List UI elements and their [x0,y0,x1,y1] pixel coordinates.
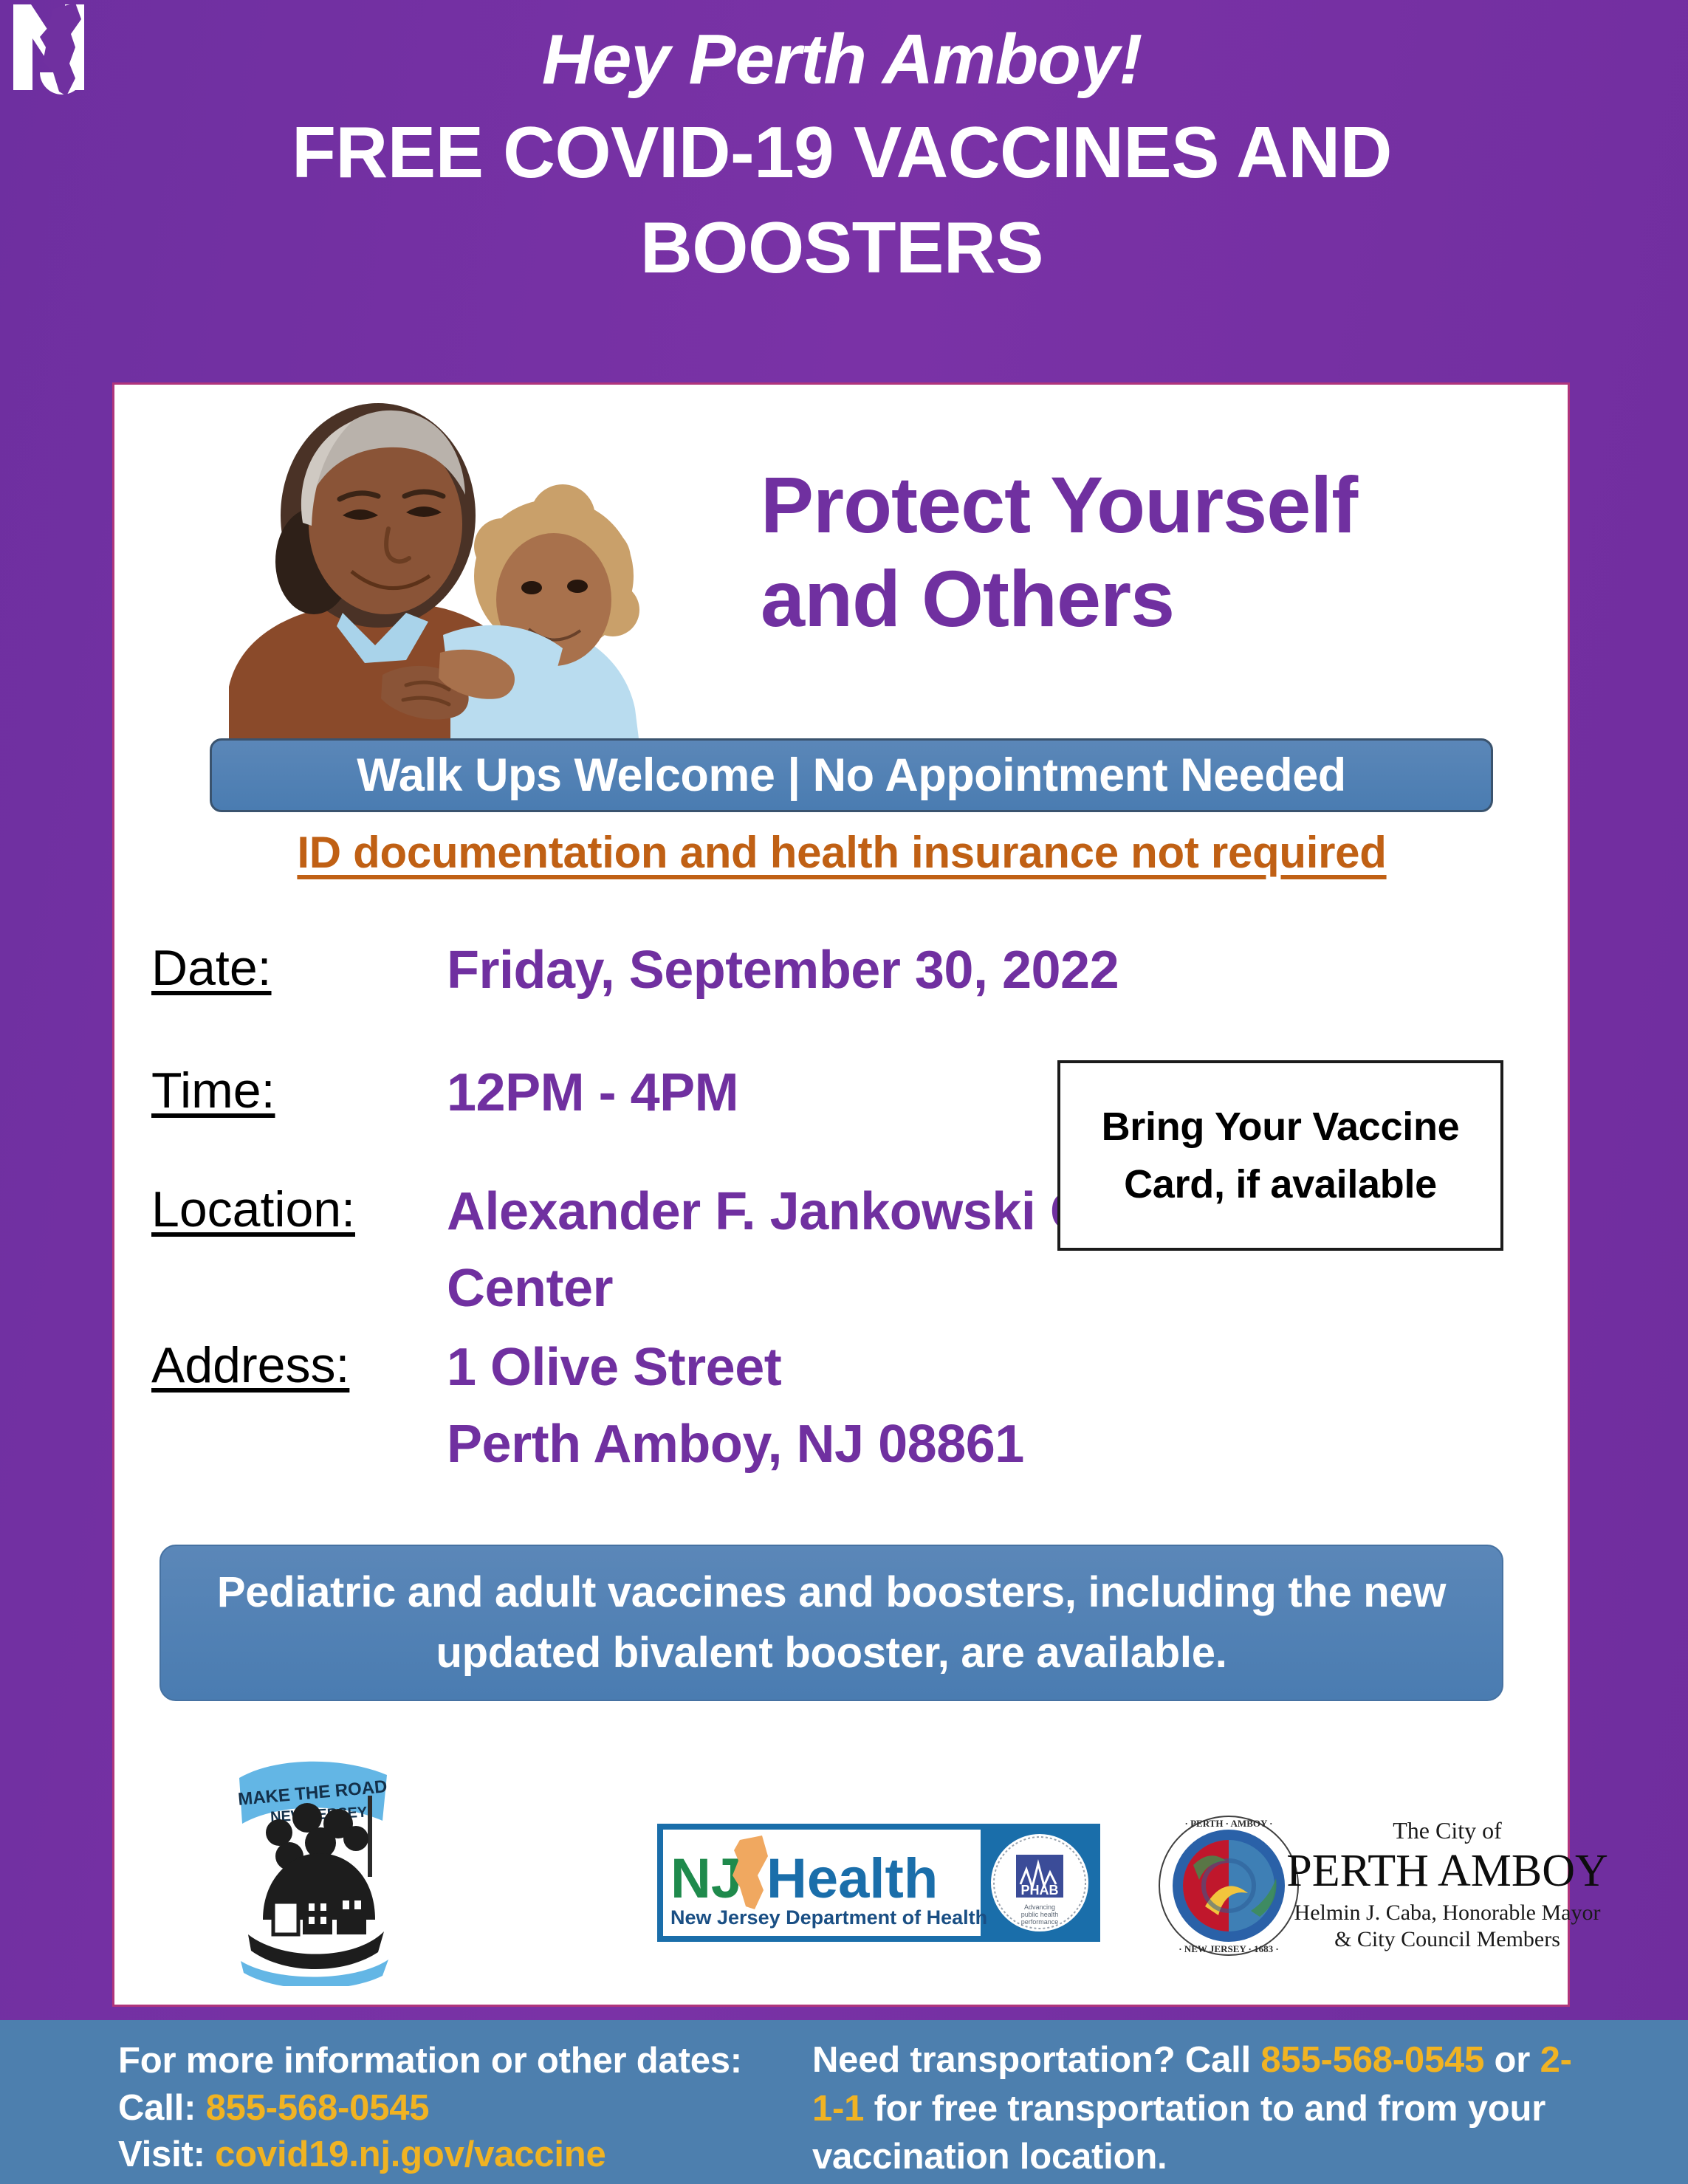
location-value-line-2: Center [447,1250,1339,1327]
protect-line-1: Protect Yourself [761,458,1543,552]
time-label-text: Time: [151,1062,275,1119]
main-title: FREE COVID-19 VACCINES AND BOOSTERS [114,105,1569,296]
bring-vaccine-card-note: Bring Your Vaccine Card, if available [1057,1060,1503,1251]
time-value: 12PM - 4PM [447,1054,738,1131]
id-requirement-text: ID documentation and health insurance no… [297,828,1386,877]
greeting-line: Hey Perth Amboy! [114,21,1569,99]
protect-heading: Protect Yourself and Others [761,458,1543,646]
svg-text:public health: public health [1021,1911,1059,1918]
footer-call-number[interactable]: 855-568-0545 [206,2088,430,2128]
location-label: Location: [151,1173,447,1246]
address-label: Address: [151,1329,447,1402]
walkups-banner: Walk Ups Welcome | No Appointment Needed [210,738,1493,812]
footer-visit-url[interactable]: covid19.nj.gov/vaccine [215,2135,605,2174]
id-requirement-note: ID documentation and health insurance no… [114,827,1569,878]
address-label-text: Address: [151,1337,349,1393]
detail-row-address: Address: 1 Olive Street Perth Amboy, NJ … [151,1329,1554,1483]
city-of-perth-amboy-logo: · PERTH · AMBOY · · NEW JERSEY · 1683 · … [1152,1803,1624,1965]
footer-transport-or: or [1484,2040,1530,2080]
time-label: Time: [151,1054,447,1127]
date-label-text: Date: [151,940,272,996]
footer-info-block: For more information or other dates: Cal… [118,2038,742,2179]
footer-visit-row: Visit: covid19.nj.gov/vaccine [118,2132,742,2179]
footer-transport-phone[interactable]: 855-568-0545 [1260,2040,1484,2080]
svg-text:& City Council Members: & City Council Members [1334,1927,1560,1951]
svg-text:NJ: NJ [670,1847,742,1910]
address-value: 1 Olive Street Perth Amboy, NJ 08861 [447,1329,1024,1483]
date-value: Friday, September 30, 2022 [447,932,1119,1009]
make-the-road-logo: MAKE THE ROAD NEW JERSEY [230,1750,400,1986]
partner-logos: MAKE THE ROAD NEW JERSEY [148,1750,1551,1986]
svg-text:performance: performance [1021,1918,1059,1926]
pediatric-banner: Pediatric and adult vaccines and booster… [159,1545,1503,1701]
footer-transport-post: for free transportation to and from your… [812,2089,1545,2177]
footer-transport-pre: Need transportation? Call [812,2040,1260,2080]
footer-bar: For more information or other dates: Cal… [0,2020,1688,2184]
poster-header: Hey Perth Amboy! FREE COVID-19 VACCINES … [114,7,1569,295]
svg-text:· PERTH · AMBOY ·: · PERTH · AMBOY · [1185,1818,1273,1829]
address-value-line-2: Perth Amboy, NJ 08861 [447,1406,1024,1483]
location-label-text: Location: [151,1181,355,1237]
footer-transportation-block: Need transportation? Call 855-568-0545 o… [812,2036,1602,2182]
nj-health-logo: NJ Health New Jersey Department of Healt… [657,1824,1100,1942]
protect-line-2: and Others [761,552,1543,645]
footer-info-heading: For more information or other dates: [118,2038,742,2085]
svg-text:Advancing: Advancing [1024,1903,1055,1911]
svg-text:New Jersey Department of Healt: New Jersey Department of Health [670,1906,987,1929]
svg-text:· NEW JERSEY · 1683 ·: · NEW JERSEY · 1683 · [1178,1943,1278,1954]
address-value-line-1: 1 Olive Street [447,1329,1024,1406]
footer-visit-label: Visit: [118,2135,215,2174]
vaccine-card-line-1: Bring Your Vaccine [1102,1098,1460,1155]
pediatric-banner-text: Pediatric and adult vaccines and booster… [186,1562,1477,1684]
flyer-poster: Hey Perth Amboy! FREE COVID-19 VACCINES … [0,0,1688,2184]
detail-row-date: Date: Friday, September 30, 2022 [151,932,1554,1009]
svg-text:PERTH AMBOY: PERTH AMBOY [1286,1846,1608,1896]
vaccine-card-line-2: Card, if available [1124,1155,1437,1213]
date-label: Date: [151,932,447,1005]
svg-text:Health: Health [766,1847,938,1910]
footer-call-label: Call: [118,2088,206,2128]
svg-text:The City of: The City of [1393,1817,1502,1844]
svg-text:Helmin J. Caba, Honorable Mayo: Helmin J. Caba, Honorable Mayor [1294,1900,1601,1925]
hero-photo [185,391,657,738]
nj-state-logo [7,1,118,105]
svg-text:PHAB: PHAB [1020,1883,1058,1898]
walkups-banner-text: Walk Ups Welcome | No Appointment Needed [357,749,1345,802]
footer-call-row: Call: 855-568-0545 [118,2085,742,2132]
